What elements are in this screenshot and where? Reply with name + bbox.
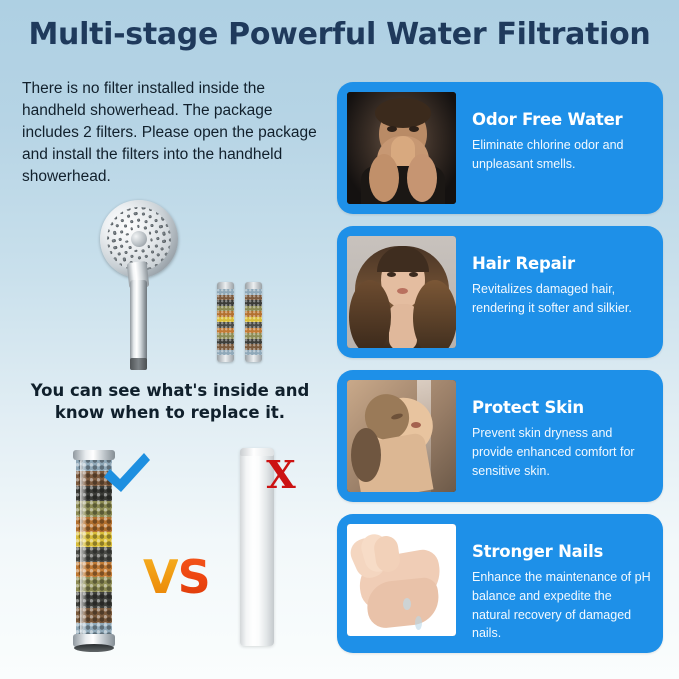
photo-woman-long-hair bbox=[347, 236, 456, 348]
check-icon bbox=[100, 447, 152, 499]
intro-paragraph: There is no filter installed inside the … bbox=[22, 78, 322, 188]
benefit-card-list: Odor Free Water Eliminate chlorine odor … bbox=[337, 82, 663, 665]
showerhead-center-hub bbox=[130, 230, 149, 249]
benefit-text: Stronger Nails Enhance the maintenance o… bbox=[456, 524, 653, 643]
filter-cartridge-2 bbox=[245, 282, 262, 362]
versus-s: S bbox=[178, 550, 210, 604]
showerhead-handle bbox=[130, 280, 147, 362]
photo-cupped-hands bbox=[347, 524, 456, 636]
versus-v: V bbox=[143, 550, 178, 604]
good-filter-glass-highlight bbox=[80, 458, 87, 636]
benefit-thumbnail bbox=[347, 236, 456, 348]
good-filter-o-ring bbox=[74, 644, 114, 652]
left-column: There is no filter installed inside the … bbox=[0, 70, 336, 679]
benefit-description: Prevent skin dryness and provide enhance… bbox=[472, 424, 653, 480]
benefit-card-stronger-nails[interactable]: Stronger Nails Enhance the maintenance o… bbox=[337, 514, 663, 653]
benefit-title: Protect Skin bbox=[472, 398, 653, 417]
cartridge-beads bbox=[245, 289, 262, 355]
cartridge-cap-top bbox=[217, 282, 234, 289]
showerhead-connector bbox=[130, 358, 147, 370]
page-title: Multi-stage Powerful Water Filtration bbox=[0, 17, 679, 52]
benefit-description: Enhance the maintenance of pH balance an… bbox=[472, 568, 653, 643]
benefit-card-protect-skin[interactable]: Protect Skin Prevent skin dryness and pr… bbox=[337, 370, 663, 502]
mid-heading: You can see what's inside and know when … bbox=[16, 380, 324, 424]
benefit-card-hair-repair[interactable]: Hair Repair Revitalizes damaged hair, re… bbox=[337, 226, 663, 358]
benefit-thumbnail bbox=[347, 92, 456, 204]
benefit-text: Protect Skin Prevent skin dryness and pr… bbox=[456, 380, 653, 480]
benefit-title: Odor Free Water bbox=[472, 110, 653, 129]
infographic-page: Multi-stage Powerful Water Filtration Th… bbox=[0, 0, 679, 679]
benefit-description: Eliminate chlorine odor and unpleasant s… bbox=[472, 136, 653, 174]
filter-cartridge-1 bbox=[217, 282, 234, 362]
photo-man-covering-nose bbox=[347, 92, 456, 204]
cartridge-cap-top bbox=[245, 282, 262, 289]
x-icon: X bbox=[258, 452, 304, 498]
benefit-title: Stronger Nails bbox=[472, 542, 653, 561]
benefit-description: Revitalizes damaged hair, rendering it s… bbox=[472, 280, 653, 318]
cartridge-beads bbox=[217, 289, 234, 355]
cartridge-cap-bottom bbox=[217, 355, 234, 362]
benefit-title: Hair Repair bbox=[472, 254, 653, 273]
cartridge-cap-bottom bbox=[245, 355, 262, 362]
benefit-thumbnail bbox=[347, 380, 456, 492]
benefit-text: Hair Repair Revitalizes damaged hair, re… bbox=[456, 236, 653, 318]
filter-comparison: VS X bbox=[0, 442, 336, 672]
benefit-text: Odor Free Water Eliminate chlorine odor … bbox=[456, 92, 653, 174]
benefit-card-odor-free-water[interactable]: Odor Free Water Eliminate chlorine odor … bbox=[337, 82, 663, 214]
versus-label: VS bbox=[143, 549, 223, 605]
benefit-thumbnail bbox=[347, 524, 456, 636]
photo-woman-showering bbox=[347, 380, 456, 492]
showerhead-illustration bbox=[95, 200, 330, 380]
